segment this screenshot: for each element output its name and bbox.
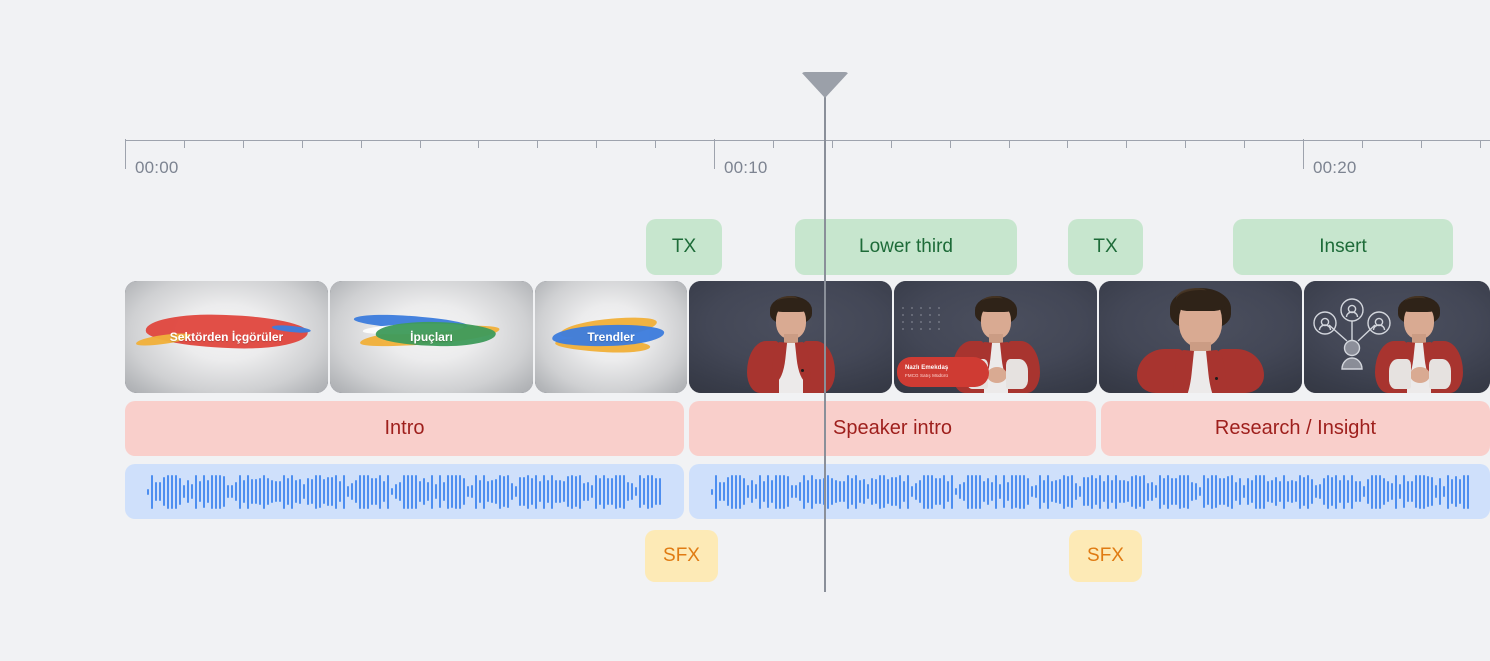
waveform-bar bbox=[1227, 476, 1229, 507]
waveform-bar bbox=[843, 481, 845, 502]
sfx-track: SFXSFX bbox=[0, 530, 1490, 582]
waveform-bar bbox=[1111, 480, 1113, 502]
sfx-clip[interactable]: SFX bbox=[645, 530, 718, 582]
waveform-bar bbox=[1147, 483, 1149, 501]
waveform-bar bbox=[255, 479, 257, 504]
waveform-bar bbox=[607, 478, 609, 505]
waveform-bar bbox=[655, 478, 657, 506]
ruler-tick-minor bbox=[773, 140, 774, 148]
waveform-bar bbox=[1451, 479, 1453, 505]
overlay-clip[interactable]: Lower third bbox=[795, 219, 1017, 275]
waveform-bar bbox=[339, 481, 341, 501]
waveform-bar bbox=[915, 483, 917, 500]
lower-third-banner: Nazlı EmekdaşFMCG Satış Müdürü bbox=[897, 357, 989, 387]
waveform-bar bbox=[651, 475, 653, 508]
waveform-bar bbox=[1419, 475, 1421, 509]
waveform-bar bbox=[1379, 475, 1381, 509]
waveform-bar bbox=[1091, 475, 1093, 509]
waveform-bar bbox=[971, 475, 973, 509]
waveform-bar bbox=[631, 483, 633, 500]
overlay-clip-label: TX bbox=[672, 236, 696, 258]
video-frame bbox=[1099, 281, 1302, 393]
waveform-bar bbox=[955, 488, 957, 495]
waveform-bar bbox=[1023, 475, 1025, 509]
waveform-bar bbox=[1127, 481, 1129, 502]
waveform-bar bbox=[1315, 485, 1317, 498]
waveform-bar bbox=[1319, 484, 1321, 499]
waveform-bar bbox=[199, 481, 201, 502]
waveform-bar bbox=[883, 475, 885, 508]
chapter-clip[interactable]: Intro bbox=[125, 401, 684, 456]
waveform-bar bbox=[775, 475, 777, 509]
waveform-bar bbox=[787, 476, 789, 507]
audio-waveform bbox=[147, 464, 674, 519]
waveform-bar bbox=[403, 475, 405, 509]
waveform-bar bbox=[1163, 478, 1165, 505]
waveform-bar bbox=[1019, 475, 1021, 509]
waveform-bar bbox=[923, 475, 925, 509]
waveform-bar bbox=[395, 484, 397, 500]
waveform-bar bbox=[1171, 478, 1173, 505]
waveform-bar bbox=[243, 480, 245, 502]
sfx-clip-label: SFX bbox=[663, 545, 700, 567]
waveform-bar bbox=[835, 480, 837, 504]
waveform-bar bbox=[1383, 478, 1385, 504]
waveform-bar bbox=[951, 475, 953, 509]
waveform-bar bbox=[1063, 475, 1065, 509]
audio-clip[interactable] bbox=[689, 464, 1490, 519]
waveform-bar bbox=[223, 476, 225, 507]
waveform-bar bbox=[511, 483, 513, 499]
waveform-bar bbox=[1199, 487, 1201, 495]
waveform-bar bbox=[411, 475, 413, 509]
chapter-clip[interactable]: Research / Insight bbox=[1101, 401, 1490, 456]
lower-third-name: Nazlı Emekdaş bbox=[905, 365, 989, 373]
waveform-bar bbox=[1139, 476, 1141, 507]
overlay-clip[interactable]: TX bbox=[1068, 219, 1143, 275]
dot bbox=[902, 314, 904, 316]
waveform-bar bbox=[1331, 477, 1333, 506]
waveform-bar bbox=[1143, 475, 1145, 509]
ruler-tick-minor bbox=[243, 140, 244, 148]
waveform-bar bbox=[623, 475, 625, 509]
ruler-tick-minor bbox=[832, 140, 833, 148]
waveform-bar bbox=[163, 477, 165, 506]
waveform-bar bbox=[643, 478, 645, 504]
slide-thumbnail: Trendler bbox=[535, 281, 687, 393]
waveform-bar bbox=[611, 478, 613, 505]
waveform-bar bbox=[1275, 477, 1277, 506]
waveform-bar bbox=[1443, 486, 1445, 497]
dot bbox=[902, 328, 904, 330]
waveform-bar bbox=[467, 486, 469, 498]
waveform-bar bbox=[767, 475, 769, 509]
waveform-bar bbox=[1279, 481, 1281, 502]
person-hands bbox=[987, 367, 1007, 383]
waveform-bar bbox=[1103, 481, 1105, 501]
waveform-bar bbox=[419, 481, 421, 502]
timeline-ruler[interactable]: 00:0000:1000:20 bbox=[125, 140, 1490, 148]
waveform-bar bbox=[963, 482, 965, 502]
waveform-bar bbox=[151, 475, 153, 509]
playhead-triangle-icon[interactable] bbox=[801, 72, 849, 98]
waveform-bar bbox=[179, 478, 181, 506]
slide-thumbnail: İpuçları bbox=[330, 281, 533, 393]
dot bbox=[911, 314, 913, 316]
waveform-bar bbox=[975, 475, 977, 509]
waveform-bar bbox=[499, 475, 501, 509]
video-clip[interactable]: Trendler bbox=[535, 281, 687, 393]
waveform-bar bbox=[235, 482, 237, 502]
waveform-bar bbox=[735, 475, 737, 509]
waveform-bar bbox=[959, 484, 961, 500]
waveform-bar bbox=[1299, 475, 1301, 509]
waveform-bar bbox=[1259, 475, 1261, 509]
chapter-clip[interactable]: Speaker intro bbox=[689, 401, 1096, 456]
waveform-bar bbox=[747, 485, 749, 497]
waveform-bar bbox=[1191, 482, 1193, 500]
waveform-bar bbox=[1011, 475, 1013, 509]
waveform-bar bbox=[367, 475, 369, 509]
waveform-bar bbox=[239, 475, 241, 509]
waveform-bar bbox=[427, 482, 429, 502]
waveform-bar bbox=[423, 478, 425, 505]
waveform-bar bbox=[1195, 483, 1197, 500]
waveform-bar bbox=[875, 479, 877, 503]
waveform-bar bbox=[1131, 476, 1133, 507]
waveform-bar bbox=[647, 475, 649, 509]
waveform-bar bbox=[1251, 480, 1253, 504]
ruler-tick-minor bbox=[1362, 140, 1363, 148]
waveform-bar bbox=[627, 482, 629, 500]
waveform-bar bbox=[219, 475, 221, 509]
waveform-bar bbox=[1219, 478, 1221, 506]
waveform-bar bbox=[659, 478, 661, 506]
waveform-bar bbox=[1467, 475, 1469, 509]
ruler-tick-major bbox=[1303, 139, 1304, 169]
waveform-bar bbox=[315, 475, 317, 509]
waveform-bar bbox=[935, 478, 937, 504]
waveform-bar bbox=[1287, 481, 1289, 501]
overlay-clip[interactable]: Insert bbox=[1233, 219, 1453, 275]
playhead[interactable] bbox=[824, 72, 826, 592]
waveform-bar bbox=[879, 475, 881, 509]
audio-track bbox=[0, 464, 1490, 519]
network-diagram-overlay bbox=[1311, 293, 1403, 379]
person-fringe bbox=[1176, 290, 1226, 311]
waveform-bar bbox=[559, 480, 561, 502]
waveform-bar bbox=[1175, 478, 1177, 505]
video-clip[interactable]: Nazlı EmekdaşFMCG Satış Müdürü bbox=[894, 281, 1097, 393]
dot bbox=[938, 307, 940, 309]
waveform-bar bbox=[327, 477, 329, 507]
sfx-clip[interactable]: SFX bbox=[1069, 530, 1142, 582]
waveform-bar bbox=[1087, 477, 1089, 507]
waveform-bar bbox=[1203, 475, 1205, 509]
ruler-label: 00:10 bbox=[724, 158, 768, 178]
waveform-bar bbox=[899, 475, 901, 509]
ruler-tick-minor bbox=[891, 140, 892, 148]
waveform-bar bbox=[839, 481, 841, 503]
waveform-bar bbox=[1119, 480, 1121, 503]
waveform-bar bbox=[583, 483, 585, 501]
ruler-label: 00:20 bbox=[1313, 158, 1357, 178]
video-clip[interactable]: Sektörden İçgörüler bbox=[125, 281, 328, 393]
waveform-bar bbox=[519, 477, 521, 506]
waveform-bar bbox=[259, 478, 261, 504]
waveform-bar bbox=[1427, 476, 1429, 507]
waveform-bar bbox=[1363, 486, 1365, 496]
waveform-bar bbox=[795, 485, 797, 498]
video-clip[interactable] bbox=[689, 281, 892, 393]
video-frame: Nazlı EmekdaşFMCG Satış Müdürü bbox=[894, 281, 1097, 393]
waveform-bar bbox=[383, 481, 385, 503]
waveform-bar bbox=[375, 478, 377, 504]
waveform-bar bbox=[363, 475, 365, 509]
dot bbox=[911, 321, 913, 323]
waveform-bar bbox=[931, 475, 933, 509]
dot bbox=[920, 307, 922, 309]
waveform-bar bbox=[1407, 481, 1409, 502]
waveform-bar bbox=[351, 483, 353, 500]
waveform-bar bbox=[595, 475, 597, 509]
waveform-bar bbox=[311, 479, 313, 503]
ruler-tick-minor bbox=[1421, 140, 1422, 148]
waveform-bar bbox=[911, 486, 913, 496]
waveform-bar bbox=[1395, 475, 1397, 509]
waveform-bar bbox=[1323, 478, 1325, 504]
waveform-bar bbox=[831, 478, 833, 506]
waveform-bar bbox=[195, 475, 197, 509]
waveform-bar bbox=[751, 480, 753, 503]
overlay-track: TXLower thirdTXInsert bbox=[0, 219, 1490, 275]
ruler-tick-minor bbox=[1009, 140, 1010, 148]
dot bbox=[938, 321, 940, 323]
waveform-bar bbox=[391, 488, 393, 495]
waveform-bar bbox=[279, 481, 281, 502]
waveform-bar bbox=[851, 478, 853, 506]
waveform-bar bbox=[1039, 475, 1041, 509]
waveform-bar bbox=[507, 475, 509, 507]
video-clip[interactable] bbox=[1304, 281, 1490, 393]
waveform-bar bbox=[811, 475, 813, 509]
waveform-bar bbox=[719, 482, 721, 501]
waveform-bar bbox=[1215, 475, 1217, 508]
ruler-tick-minor bbox=[655, 140, 656, 148]
dot bbox=[929, 307, 931, 309]
waveform-bar bbox=[863, 479, 865, 505]
waveform-bar bbox=[1447, 475, 1449, 509]
waveform-bar bbox=[147, 489, 149, 495]
waveform-bar bbox=[1071, 475, 1073, 507]
waveform-bar bbox=[211, 475, 213, 509]
waveform-bar bbox=[263, 475, 265, 509]
waveform-bar bbox=[1031, 486, 1033, 498]
timeline-editor: 00:0000:1000:20 TXLower thirdTXInsert Se… bbox=[0, 0, 1490, 661]
chapter-track: IntroSpeaker introResearch / Insight bbox=[0, 401, 1490, 456]
waveform-bar bbox=[1123, 480, 1125, 502]
ruler-tick-minor bbox=[950, 140, 951, 148]
waveform-bar bbox=[535, 475, 537, 509]
brush-graphic: Trendler bbox=[550, 310, 672, 364]
waveform-bar bbox=[1187, 475, 1189, 509]
waveform-bar bbox=[435, 484, 437, 499]
chapter-clip-label: Intro bbox=[384, 417, 424, 440]
waveform-bar bbox=[991, 482, 993, 502]
waveform-bar bbox=[563, 481, 565, 502]
waveform-bar bbox=[291, 475, 293, 509]
waveform-bar bbox=[815, 479, 817, 503]
person-fringe bbox=[1401, 298, 1437, 312]
waveform-bar bbox=[1307, 475, 1309, 509]
waveform-bar bbox=[183, 485, 185, 497]
waveform-bar bbox=[303, 484, 305, 500]
waveform-bar bbox=[983, 481, 985, 502]
lower-third-role: FMCG Satış Müdürü bbox=[905, 373, 989, 379]
waveform-bar bbox=[187, 480, 189, 503]
waveform-bar bbox=[859, 480, 861, 502]
waveform-bar bbox=[1095, 478, 1097, 504]
waveform-bar bbox=[1263, 475, 1265, 509]
waveform-bar bbox=[1411, 481, 1413, 501]
waveform-bar bbox=[1007, 482, 1009, 502]
waveform-bar bbox=[1051, 481, 1053, 503]
waveform-bar bbox=[999, 484, 1001, 499]
waveform-bar bbox=[819, 479, 821, 504]
dot bbox=[938, 314, 940, 316]
chapter-clip-label: Research / Insight bbox=[1215, 417, 1376, 440]
ruler-tick-minor bbox=[184, 140, 185, 148]
waveform-bar bbox=[307, 478, 309, 506]
waveform-bar bbox=[619, 475, 621, 509]
ruler-tick-minor bbox=[596, 140, 597, 148]
waveform-bar bbox=[459, 475, 461, 509]
waveform-bar bbox=[407, 475, 409, 509]
waveform-bar bbox=[1035, 485, 1037, 499]
waveform-bar bbox=[503, 476, 505, 507]
waveform-bar bbox=[447, 475, 449, 509]
waveform-bar bbox=[1343, 475, 1345, 509]
waveform-bar bbox=[567, 476, 569, 507]
waveform-bar bbox=[387, 475, 389, 509]
dot bbox=[911, 328, 913, 330]
waveform-bar bbox=[855, 475, 857, 509]
waveform-bar bbox=[1359, 481, 1361, 501]
waveform-bar bbox=[555, 480, 557, 503]
waveform-bar bbox=[1371, 475, 1373, 509]
waveform-bar bbox=[455, 475, 457, 509]
waveform-bar bbox=[759, 475, 761, 509]
audio-clip[interactable] bbox=[125, 464, 684, 519]
waveform-bar bbox=[1339, 480, 1341, 503]
waveform-bar bbox=[1459, 479, 1461, 504]
waveform-bar bbox=[1327, 475, 1329, 509]
ruler-tick-minor bbox=[1480, 140, 1481, 148]
waveform-bar bbox=[1015, 475, 1017, 507]
waveform-bar bbox=[635, 487, 637, 495]
waveform-bar bbox=[207, 480, 209, 504]
waveform-bar bbox=[1303, 477, 1305, 507]
waveform-bar bbox=[739, 475, 741, 509]
waveform-bar bbox=[1179, 475, 1181, 509]
slide-title: İpuçları bbox=[410, 330, 453, 344]
waveform-bar bbox=[319, 475, 321, 508]
waveform-bar bbox=[903, 481, 905, 501]
video-track: Sektörden İçgörülerİpuçlarıTrendlerNazlı… bbox=[0, 281, 1490, 393]
waveform-bar bbox=[1367, 479, 1369, 505]
overlay-clip-label: TX bbox=[1093, 236, 1117, 258]
dot bbox=[929, 314, 931, 316]
overlay-clip[interactable]: TX bbox=[646, 219, 722, 275]
waveform-bar bbox=[1347, 480, 1349, 503]
waveform-bar bbox=[491, 480, 493, 503]
waveform-bar bbox=[603, 475, 605, 509]
network-diagram-icon bbox=[1311, 293, 1403, 379]
ruler-tick-minor bbox=[302, 140, 303, 148]
waveform-bar bbox=[1135, 475, 1137, 509]
ruler-tick-major bbox=[125, 139, 126, 169]
waveform-bar bbox=[251, 479, 253, 503]
brush-graphic: Sektörden İçgörüler bbox=[145, 310, 307, 364]
waveform-bar bbox=[479, 480, 481, 503]
waveform-bar bbox=[1047, 475, 1049, 509]
waveform-bar bbox=[1043, 480, 1045, 503]
ruler-tick-minor bbox=[478, 140, 479, 148]
ruler-tick-minor bbox=[1185, 140, 1186, 148]
waveform-bar bbox=[483, 475, 485, 509]
waveform-bar bbox=[1455, 476, 1457, 507]
brush-graphic: İpuçları bbox=[350, 310, 512, 364]
waveform-bar bbox=[1391, 483, 1393, 500]
waveform-bar bbox=[475, 475, 477, 509]
waveform-bar bbox=[1099, 475, 1101, 509]
waveform-bar bbox=[939, 478, 941, 504]
ruler-tick-minor bbox=[361, 140, 362, 148]
waveform-bar bbox=[847, 475, 849, 509]
waveform-bar bbox=[1291, 480, 1293, 503]
waveform-bar bbox=[295, 480, 297, 502]
waveform-bar bbox=[1207, 478, 1209, 504]
dot bbox=[938, 328, 940, 330]
ruler-baseline bbox=[125, 140, 1490, 141]
video-clip[interactable] bbox=[1099, 281, 1302, 393]
waveform-bar bbox=[827, 475, 829, 509]
waveform-bar bbox=[1399, 484, 1401, 498]
waveform-bar bbox=[1311, 479, 1313, 503]
waveform-bar bbox=[995, 475, 997, 509]
waveform-bar bbox=[867, 484, 869, 500]
waveform-bar bbox=[571, 475, 573, 509]
video-clip[interactable]: İpuçları bbox=[330, 281, 533, 393]
waveform-bar bbox=[359, 475, 361, 509]
video-frame bbox=[689, 281, 892, 393]
waveform-bar bbox=[523, 477, 525, 507]
waveform-bar bbox=[587, 482, 589, 501]
ruler-label: 00:00 bbox=[135, 158, 179, 178]
person-sleeve-right bbox=[1429, 359, 1451, 389]
waveform-bar bbox=[887, 479, 889, 504]
waveform-bar bbox=[547, 480, 549, 502]
waveform-bar bbox=[871, 478, 873, 506]
waveform-bar bbox=[731, 475, 733, 509]
person-fringe bbox=[978, 298, 1014, 312]
waveform-bar bbox=[891, 477, 893, 507]
dot bbox=[920, 321, 922, 323]
waveform-bar bbox=[807, 480, 809, 502]
waveform-bar bbox=[639, 475, 641, 509]
waveform-bar bbox=[1415, 475, 1417, 508]
waveform-bar bbox=[471, 485, 473, 499]
